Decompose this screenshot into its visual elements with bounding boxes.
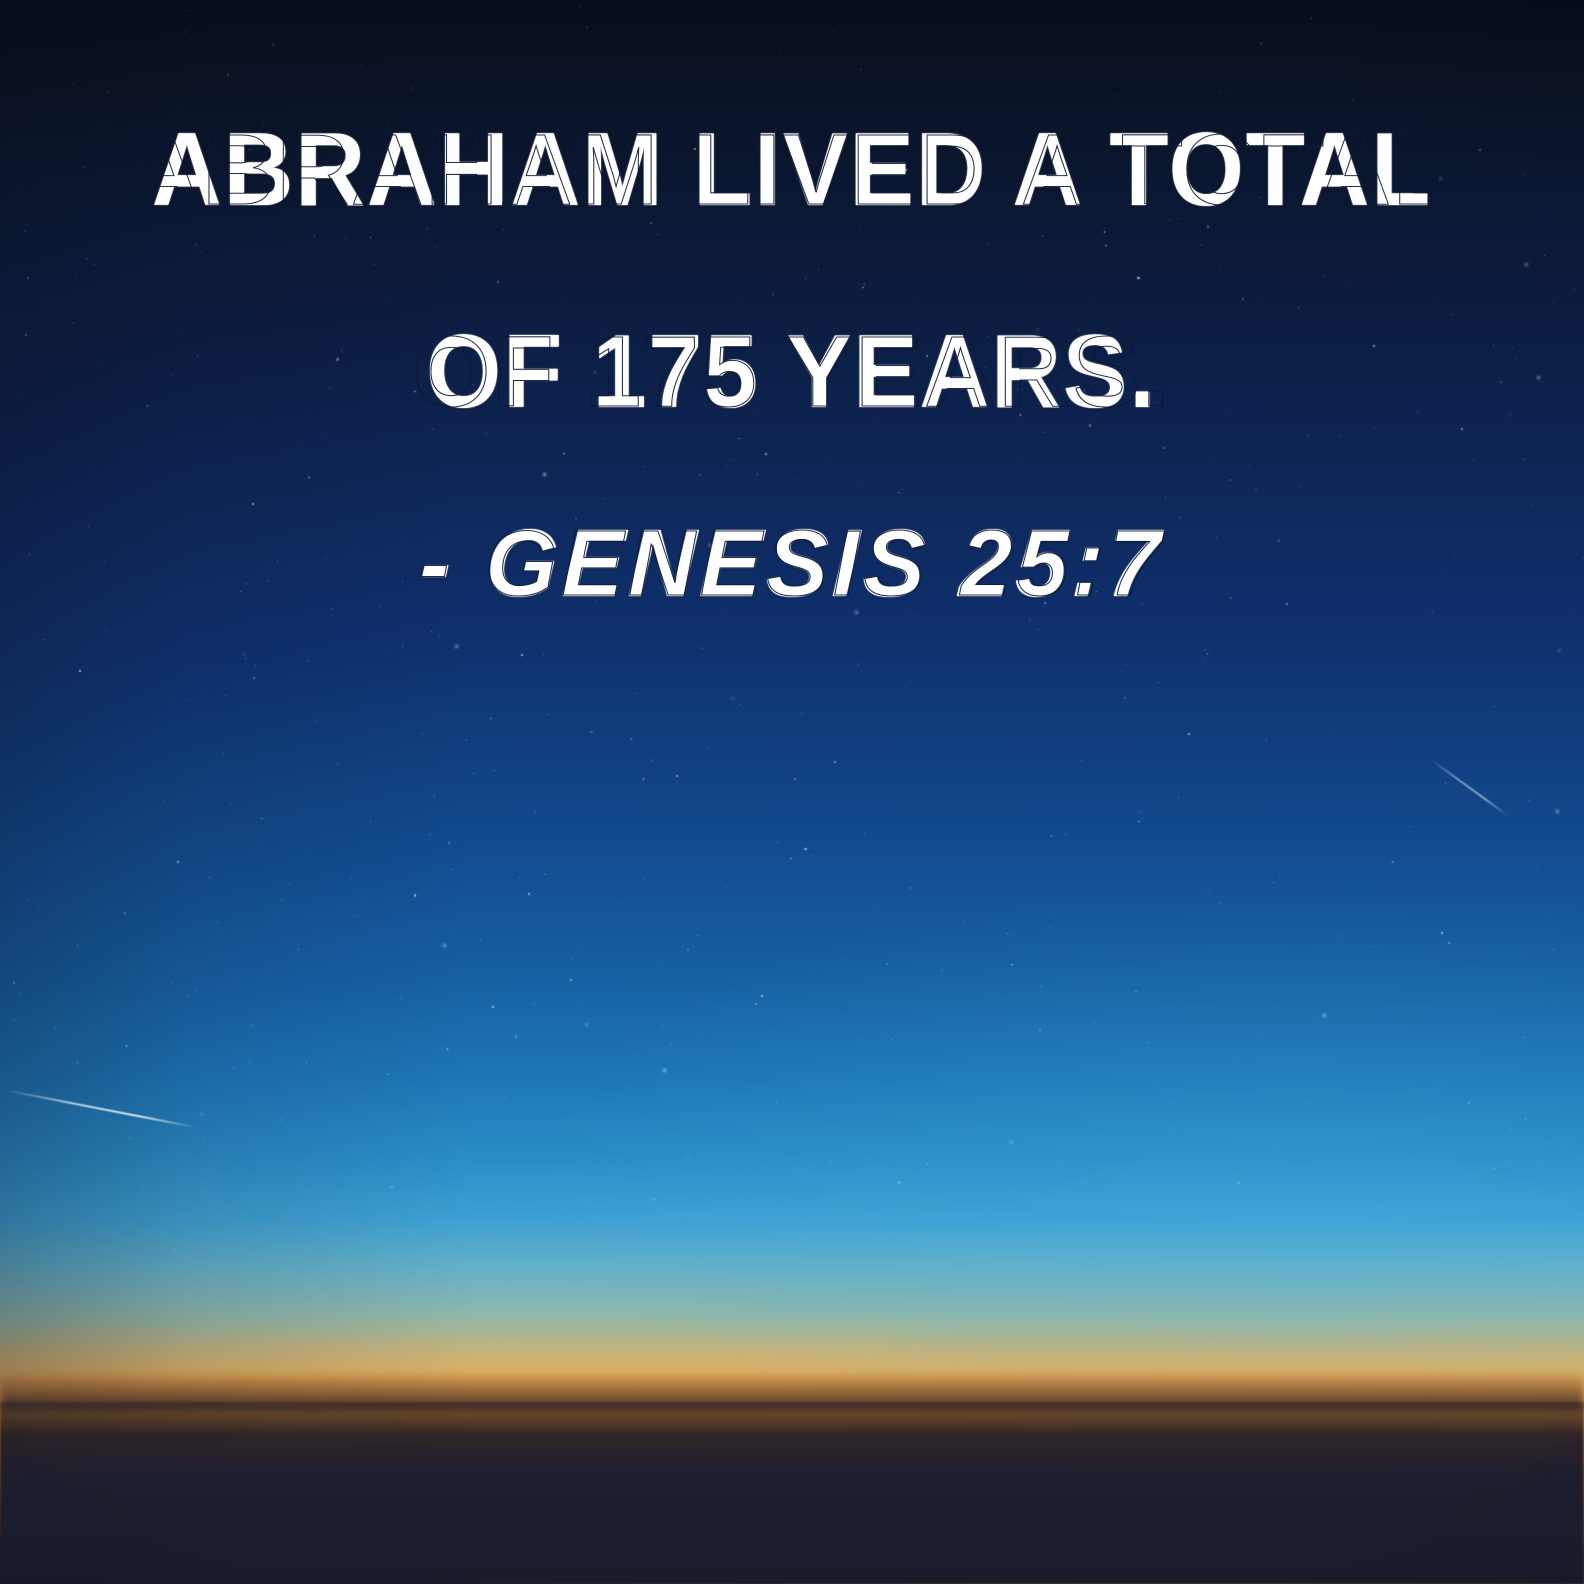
verse-citation: - GENESIS 25:7 [96,516,1487,612]
verse-citation-wrap: - GENESIS 25:7 - GENESIS 25:7 [70,516,1514,612]
verse-line-2: OF 175 YEARS. [121,320,1464,424]
verse-text-block: ABRAHAM LIVED A TOTAL ABRAHAM LIVED A TO… [0,118,1584,612]
verse-line-2-wrap: OF 175 YEARS. OF 175 YEARS. [70,320,1514,424]
verse-line-1: ABRAHAM LIVED A TOTAL [121,118,1464,222]
verse-line-1-wrap: ABRAHAM LIVED A TOTAL ABRAHAM LIVED A TO… [70,118,1514,222]
land-silhouette [0,1402,1584,1584]
verse-image-canvas: ABRAHAM LIVED A TOTAL ABRAHAM LIVED A TO… [0,0,1584,1584]
